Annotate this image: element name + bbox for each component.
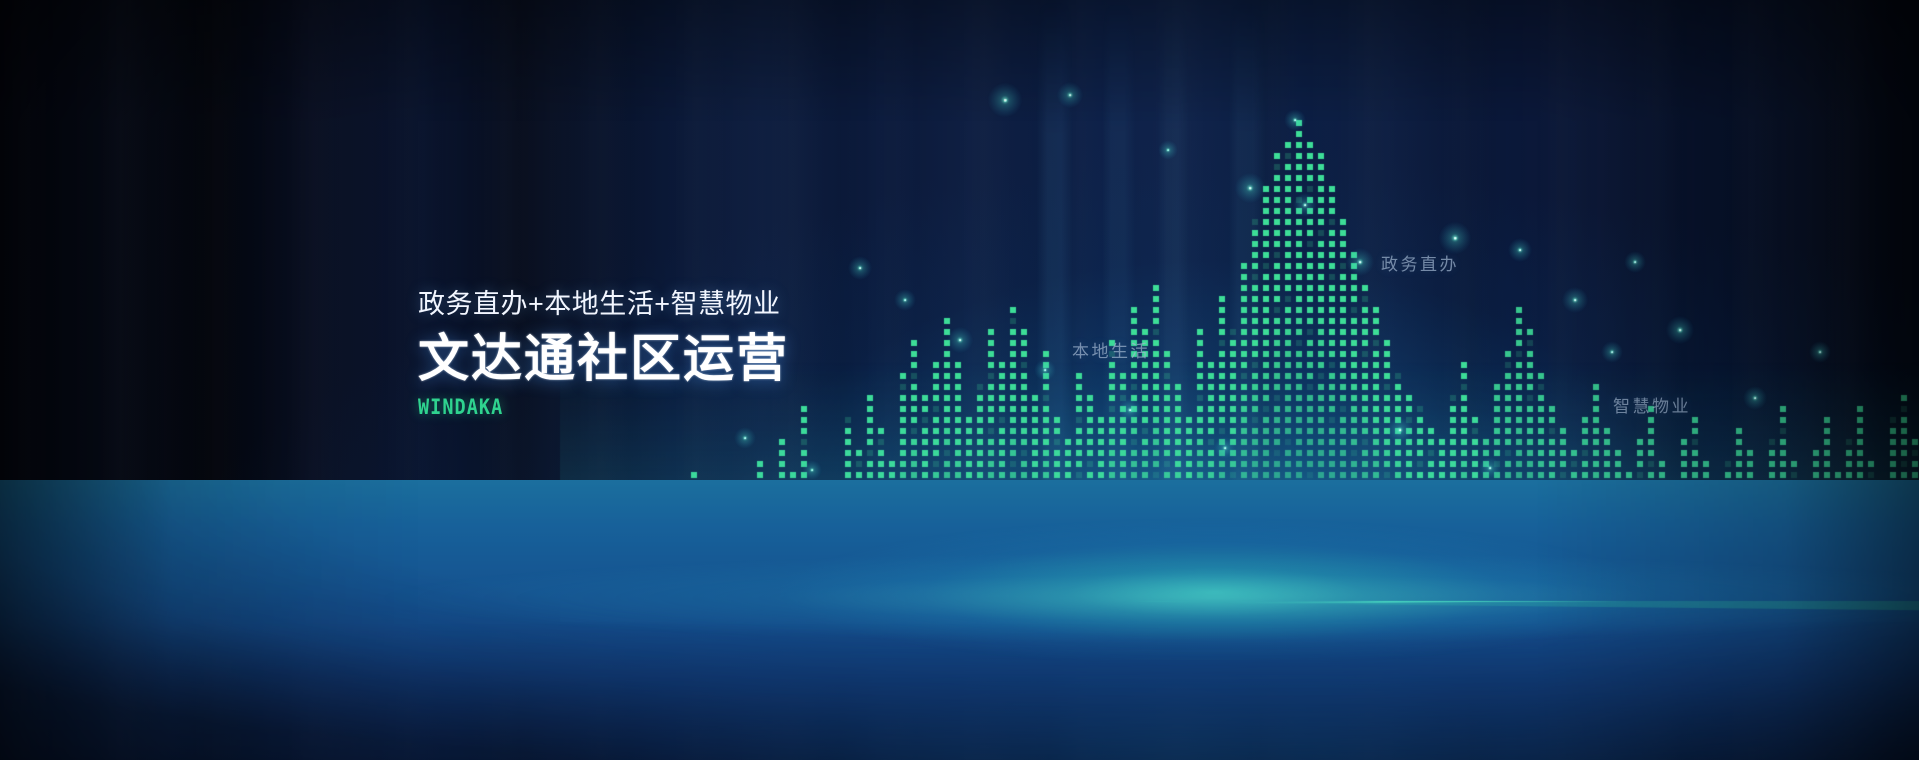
hero-copy: 政务直办+本地生活+智慧物业 文达通社区运营 WINDAKA bbox=[418, 288, 1138, 419]
brand-wordmark: WINDAKA bbox=[418, 395, 1052, 419]
city-label-government: 政务直办 bbox=[1381, 250, 1459, 275]
city-label-local-life: 本地生活 bbox=[1072, 337, 1150, 362]
hero-subtitle: 政务直办+本地生活+智慧物业 bbox=[418, 288, 1138, 322]
city-label-smart-property: 智慧物业 bbox=[1613, 392, 1691, 417]
hero-banner: 政务直办+本地生活+智慧物业 文达通社区运营 WINDAKA 政务直办 本地生活… bbox=[0, 0, 1919, 760]
page-title: 文达通社区运营 bbox=[418, 331, 1138, 387]
